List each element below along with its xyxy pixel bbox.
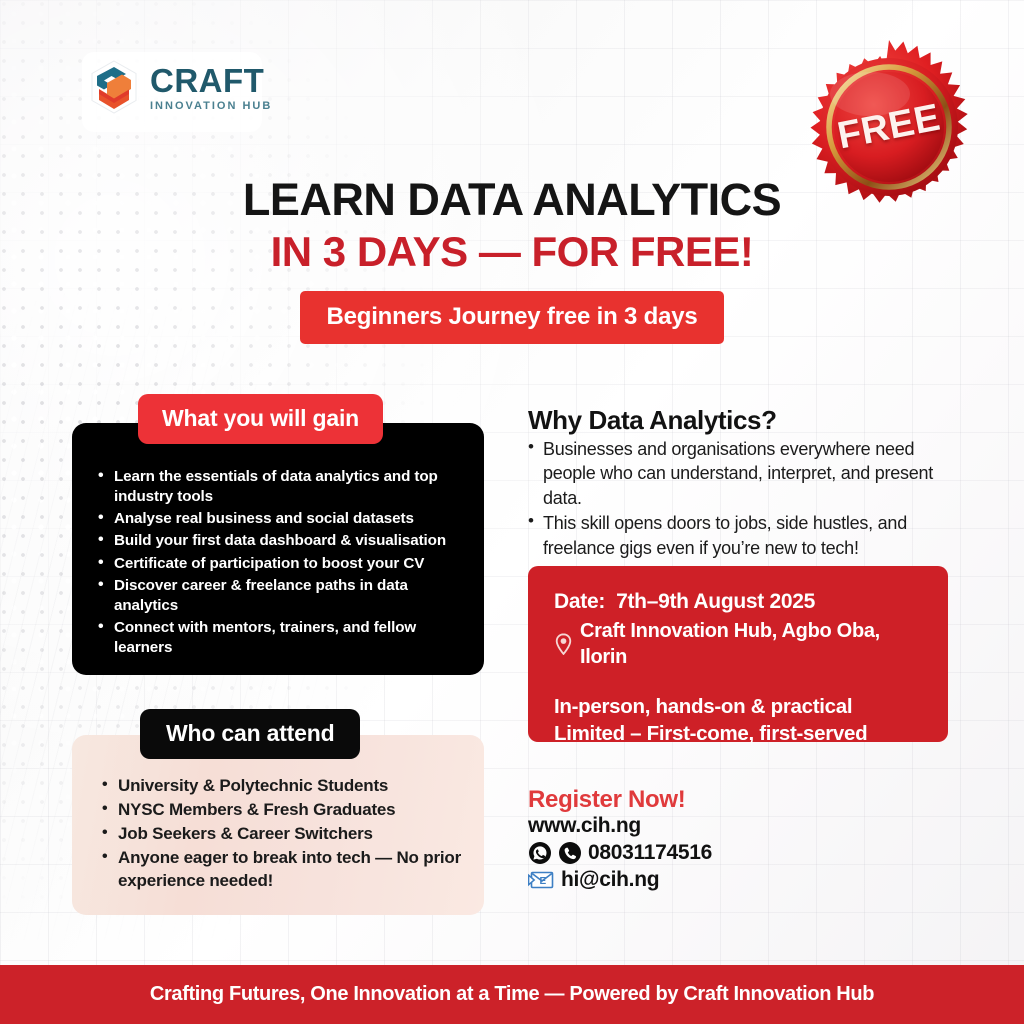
event-date-label: Date: — [554, 590, 605, 613]
event-details-panel: Date: 7th–9th August 2025 Craft Innovati… — [528, 566, 948, 742]
footer-banner: Crafting Futures, One Innovation at a Ti… — [0, 965, 1024, 1024]
list-item: NYSC Members & Fresh Graduates — [102, 799, 464, 822]
attend-section-panel: University & Polytechnic Students NYSC M… — [72, 735, 484, 915]
attend-section-tab: Who can attend — [140, 709, 360, 759]
event-date-value: 7th–9th August 2025 — [616, 590, 815, 613]
list-item: Anyone eager to break into tech — No pri… — [102, 847, 464, 893]
event-date-line: Date: 7th–9th August 2025 — [554, 588, 924, 615]
gain-section-panel: Learn the essentials of data analytics a… — [72, 423, 484, 675]
headline-block: LEARN DATA ANALYTICS IN 3 DAYS — FOR FRE… — [0, 176, 1024, 344]
list-item: Job Seekers & Career Switchers — [102, 823, 464, 846]
logo-wordmark: CRAFT — [150, 64, 272, 97]
svg-text:E: E — [540, 876, 547, 887]
event-venue-line: Craft Innovation Hub, Agbo Oba, Ilorin — [554, 618, 924, 670]
envelope-icon: E — [528, 870, 554, 890]
register-phone-number: 08031174516 — [588, 841, 712, 865]
headline-subtitle-pill: Beginners Journey free in 3 days — [300, 291, 723, 344]
gain-list: Learn the essentials of data analytics a… — [98, 467, 462, 657]
brand-logo: CRAFT INNOVATION HUB — [88, 58, 272, 116]
list-item: Discover career & freelance paths in dat… — [98, 576, 462, 616]
list-item: Learn the essentials of data analytics a… — [98, 467, 462, 507]
list-item: Businesses and organisations everywhere … — [528, 437, 948, 510]
why-list: Businesses and organisations everywhere … — [528, 437, 948, 561]
event-format: In-person, hands-on & practical — [554, 694, 924, 720]
flyer-canvas: CRAFT INNOVATION HUB — [0, 0, 1024, 1024]
attend-list: University & Polytechnic Students NYSC M… — [102, 775, 464, 893]
register-title: Register Now! — [528, 786, 685, 814]
list-item: Analyse real business and social dataset… — [98, 509, 462, 529]
register-email-row[interactable]: E hi@cih.ng — [528, 868, 659, 892]
list-item: Connect with mentors, trainers, and fell… — [98, 618, 462, 658]
logo-tagline: INNOVATION HUB — [150, 101, 272, 112]
list-item: Build your first data dashboard & visual… — [98, 531, 462, 551]
why-section-title: Why Data Analytics? — [528, 405, 777, 436]
gain-section-tab: What you will gain — [138, 394, 383, 444]
hexagon-chevron-logo-icon — [88, 58, 140, 116]
location-pin-icon — [554, 633, 573, 655]
whatsapp-icon — [528, 841, 552, 865]
phone-icon — [558, 841, 582, 865]
event-availability: Limited – First-come, first-served — [554, 721, 924, 747]
register-phone-row[interactable]: 08031174516 — [528, 841, 712, 865]
footer-tagline: Crafting Futures, One Innovation at a Ti… — [150, 983, 874, 1006]
list-item: University & Polytechnic Students — [102, 775, 464, 798]
headline-line-1: LEARN DATA ANALYTICS — [0, 176, 1024, 224]
register-website[interactable]: www.cih.ng — [528, 814, 641, 838]
list-item: Certificate of participation to boost yo… — [98, 554, 462, 574]
headline-line-2: IN 3 DAYS — FOR FREE! — [0, 228, 1024, 275]
list-item: This skill opens doors to jobs, side hus… — [528, 511, 948, 560]
event-venue-text: Craft Innovation Hub, Agbo Oba, Ilorin — [580, 618, 924, 670]
event-extra-info: In-person, hands-on & practical Limited … — [554, 694, 924, 746]
register-email-address: hi@cih.ng — [561, 868, 659, 892]
